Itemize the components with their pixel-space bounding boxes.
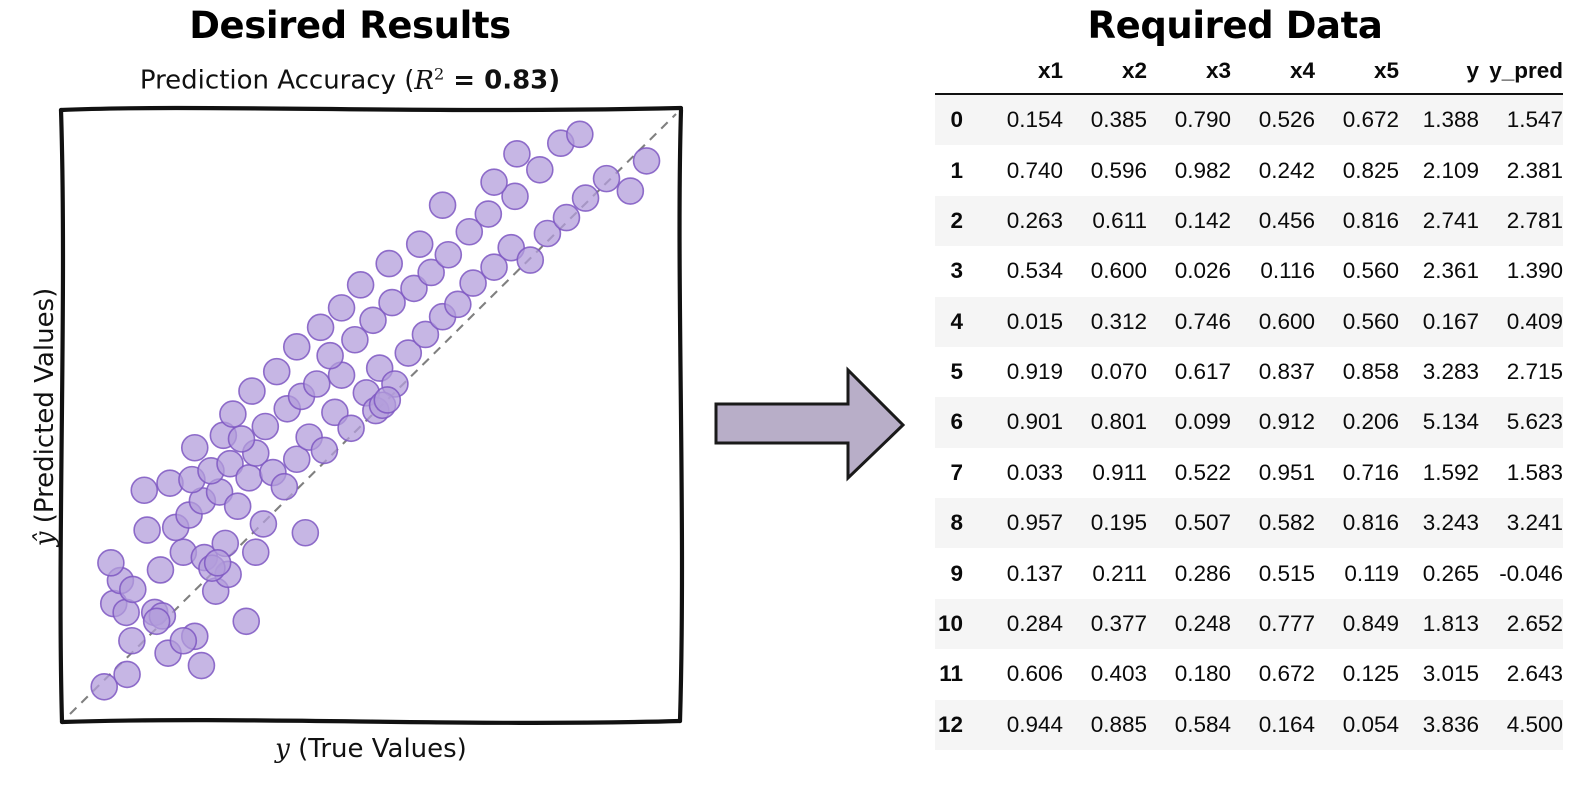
cell-y: 5.134 [1399,397,1479,447]
table-row: 90.1370.2110.2860.5150.1190.265-0.046 [935,548,1563,598]
row-index: 10 [935,599,979,649]
frame-right [680,110,682,721]
table-header-row: x1 x2 x3 x4 x5 y y_pred [935,58,1563,94]
table-row: 00.1540.3850.7900.5260.6721.3881.547 [935,94,1563,145]
cell-y-pred: 1.547 [1479,94,1563,145]
cell-y-pred: 2.715 [1479,347,1563,397]
table-row: 60.9010.8010.0990.9120.2065.1345.623 [935,397,1563,447]
scatter-point [329,295,355,321]
cell-x4: 0.116 [1231,246,1315,296]
cell-y: 0.167 [1399,297,1479,347]
scatter-point [617,178,643,204]
cell-x4: 0.582 [1231,498,1315,548]
cell-x3: 0.790 [1147,94,1231,145]
figure-root: Desired Results Prediction Accuracy (R2 … [0,0,1575,785]
scatter-point [243,539,269,565]
cell-x3: 0.507 [1147,498,1231,548]
cell-y-pred: 3.241 [1479,498,1563,548]
row-index: 5 [935,347,979,397]
scatter-point [252,414,278,440]
scatter-point [182,435,208,461]
scatter-point [430,192,456,218]
cell-x3: 0.026 [1147,246,1231,296]
cell-x2: 0.211 [1063,548,1147,598]
scatter-point [147,557,173,583]
cell-x2: 0.312 [1063,297,1147,347]
cell-x3: 0.248 [1147,599,1231,649]
cell-x1: 0.919 [979,347,1063,397]
col-header-index [935,58,979,94]
table-row: 40.0150.3120.7460.6000.5600.1670.409 [935,297,1563,347]
scatter-point [527,157,553,183]
table-row: 120.9440.8850.5840.1640.0543.8364.500 [935,700,1563,750]
cell-y-pred: -0.046 [1479,548,1563,598]
scatter-point [475,201,501,227]
cell-x4: 0.600 [1231,297,1315,347]
scatter-point [271,474,297,500]
cell-x4: 0.456 [1231,196,1315,246]
scatter-point [236,465,262,491]
table-row: 50.9190.0700.6170.8370.8583.2832.715 [935,347,1563,397]
cell-x5: 0.816 [1315,498,1399,548]
cell-x1: 0.957 [979,498,1063,548]
cell-y-pred: 1.583 [1479,448,1563,498]
cell-x1: 0.901 [979,397,1063,447]
cell-x3: 0.099 [1147,397,1231,447]
cell-y: 3.836 [1399,700,1479,750]
scatter-point [131,477,157,503]
row-index: 2 [935,196,979,246]
scatter-point [113,599,139,625]
cell-x4: 0.672 [1231,649,1315,699]
cell-y-pred: 4.500 [1479,700,1563,750]
scatter-point [317,343,343,369]
scatter-point [114,661,140,687]
scatter-point [304,371,330,397]
cell-x2: 0.195 [1063,498,1147,548]
scatter-point [481,169,507,195]
x-axis-label: y (True Values) [60,734,682,764]
row-index: 6 [935,397,979,447]
row-index: 11 [935,649,979,699]
cell-x3: 0.617 [1147,347,1231,397]
cell-x3: 0.180 [1147,649,1231,699]
scatter-point [264,359,290,385]
cell-y: 3.243 [1399,498,1479,548]
cell-x4: 0.526 [1231,94,1315,145]
cell-y: 2.741 [1399,196,1479,246]
arrow-polygon [716,370,903,478]
scatter-point [98,550,124,576]
scatter-point [250,511,276,537]
cell-x2: 0.885 [1063,700,1147,750]
cell-x2: 0.611 [1063,196,1147,246]
table-row: 30.5340.6000.0260.1160.5602.3611.390 [935,246,1563,296]
page-title-required-data: Required Data [905,4,1565,47]
table-row: 10.7400.5960.9820.2420.8252.1092.381 [935,145,1563,195]
cell-y: 3.283 [1399,347,1479,397]
cell-x5: 0.560 [1315,246,1399,296]
row-index: 12 [935,700,979,750]
col-header-y-pred: y_pred [1479,58,1563,94]
scatter-point [573,185,599,211]
cell-x2: 0.403 [1063,649,1147,699]
col-header-x2: x2 [1063,58,1147,94]
cell-y: 1.592 [1399,448,1479,498]
scatter-point [134,517,160,543]
cell-y: 0.265 [1399,548,1479,598]
col-header-x5: x5 [1315,58,1399,94]
frame-left [61,110,63,722]
cell-x1: 0.944 [979,700,1063,750]
scatter-point [91,674,117,700]
scatter-point [170,628,196,654]
cell-x5: 0.672 [1315,94,1399,145]
cell-x5: 0.125 [1315,649,1399,699]
scatter-plot [0,0,700,785]
scatter-point [239,378,265,404]
cell-y: 1.388 [1399,94,1479,145]
cell-x2: 0.596 [1063,145,1147,195]
cell-x3: 0.286 [1147,548,1231,598]
cell-x5: 0.716 [1315,448,1399,498]
cell-y-pred: 0.409 [1479,297,1563,347]
cell-x1: 0.263 [979,196,1063,246]
cell-x5: 0.054 [1315,700,1399,750]
cell-x3: 0.982 [1147,145,1231,195]
cell-x1: 0.740 [979,145,1063,195]
cell-y-pred: 2.781 [1479,196,1563,246]
cell-x2: 0.600 [1063,246,1147,296]
cell-x5: 0.206 [1315,397,1399,447]
cell-x3: 0.746 [1147,297,1231,347]
cell-y-pred: 2.381 [1479,145,1563,195]
cell-x5: 0.816 [1315,196,1399,246]
row-index: 3 [935,246,979,296]
dataframe-table: x1 x2 x3 x4 x5 y y_pred 00.1540.3850.790… [935,58,1563,750]
scatter-point [338,415,364,441]
cell-x4: 0.837 [1231,347,1315,397]
scatter-point [228,426,254,452]
scatter-point [284,334,310,360]
cell-x1: 0.534 [979,246,1063,296]
cell-x3: 0.584 [1147,700,1231,750]
row-index: 1 [935,145,979,195]
cell-y: 1.813 [1399,599,1479,649]
cell-y-pred: 2.652 [1479,599,1563,649]
cell-x2: 0.377 [1063,599,1147,649]
scatter-point [407,231,433,257]
table-row: 20.2630.6110.1420.4560.8162.7412.781 [935,196,1563,246]
cell-x1: 0.137 [979,548,1063,598]
row-index: 0 [935,94,979,145]
table-body: 00.1540.3850.7900.5260.6721.3881.54710.7… [935,94,1563,750]
table-row: 80.9570.1950.5070.5820.8163.2433.241 [935,498,1563,548]
cell-x3: 0.522 [1147,448,1231,498]
scatter-point [567,121,593,147]
cell-x2: 0.385 [1063,94,1147,145]
frame-bottom [62,720,680,723]
cell-x5: 0.119 [1315,548,1399,598]
desired-results-panel: Desired Results Prediction Accuracy (R2 … [0,0,700,785]
table-header: x1 x2 x3 x4 x5 y y_pred [935,58,1563,94]
scatter-point [233,608,259,634]
cell-x5: 0.858 [1315,347,1399,397]
frame-top [61,108,681,110]
cell-x1: 0.154 [979,94,1063,145]
scatter-point [634,148,660,174]
scatter-point [188,653,214,679]
cell-x5: 0.560 [1315,297,1399,347]
row-index: 7 [935,448,979,498]
cell-x4: 0.242 [1231,145,1315,195]
row-index: 4 [935,297,979,347]
x-axis-symbol: y [275,734,290,764]
cell-x4: 0.951 [1231,448,1315,498]
cell-x4: 0.164 [1231,700,1315,750]
x-axis-text: (True Values) [290,734,467,764]
y-axis-text: (Predicted Values) [30,288,60,532]
cell-x2: 0.070 [1063,347,1147,397]
y-axis-label: ŷ (Predicted Values) [30,110,60,724]
cell-x3: 0.142 [1147,196,1231,246]
scatter-point [308,314,334,340]
cell-y-pred: 2.643 [1479,649,1563,699]
table-row: 70.0330.9110.5220.9510.7161.5921.583 [935,448,1563,498]
col-header-x1: x1 [979,58,1063,94]
cell-y: 2.361 [1399,246,1479,296]
scatter-point [311,437,337,463]
cell-x2: 0.801 [1063,397,1147,447]
cell-y: 3.015 [1399,649,1479,699]
col-header-x3: x3 [1147,58,1231,94]
required-data-panel: Required Data x1 x2 x3 x4 x5 y y_pred 00… [905,0,1575,785]
cell-x1: 0.606 [979,649,1063,699]
scatter-point [376,251,402,277]
cell-x2: 0.911 [1063,448,1147,498]
scatter-point [220,401,246,427]
scatter-point [119,628,145,654]
scatter-point [594,166,620,192]
cell-x1: 0.033 [979,448,1063,498]
col-header-y: y [1399,58,1479,94]
row-index: 9 [935,548,979,598]
table-row: 100.2840.3770.2480.7770.8491.8132.652 [935,599,1563,649]
scatter-point [292,520,318,546]
cell-x1: 0.015 [979,297,1063,347]
scatter-point [225,493,251,519]
scatter-point [435,242,461,268]
cell-x4: 0.515 [1231,548,1315,598]
y-axis-symbol: ŷ [30,532,60,547]
scatter-point [120,576,146,602]
cell-x4: 0.777 [1231,599,1315,649]
cell-x4: 0.912 [1231,397,1315,447]
cell-x5: 0.825 [1315,145,1399,195]
cell-y-pred: 5.623 [1479,397,1563,447]
scatter-point [205,550,231,576]
cell-y: 2.109 [1399,145,1479,195]
cell-x1: 0.284 [979,599,1063,649]
table-row: 110.6060.4030.1800.6720.1253.0152.643 [935,649,1563,699]
scatter-point [553,205,579,231]
cell-y-pred: 1.390 [1479,246,1563,296]
cell-x5: 0.849 [1315,599,1399,649]
row-index: 8 [935,498,979,548]
col-header-x4: x4 [1231,58,1315,94]
right-arrow-icon [700,330,930,490]
scatter-point [517,247,543,273]
scatter-point [348,272,374,298]
scatter-point [144,608,170,634]
scatter-markers [91,121,659,699]
scatter-point [504,141,530,167]
scatter-point [374,387,400,413]
